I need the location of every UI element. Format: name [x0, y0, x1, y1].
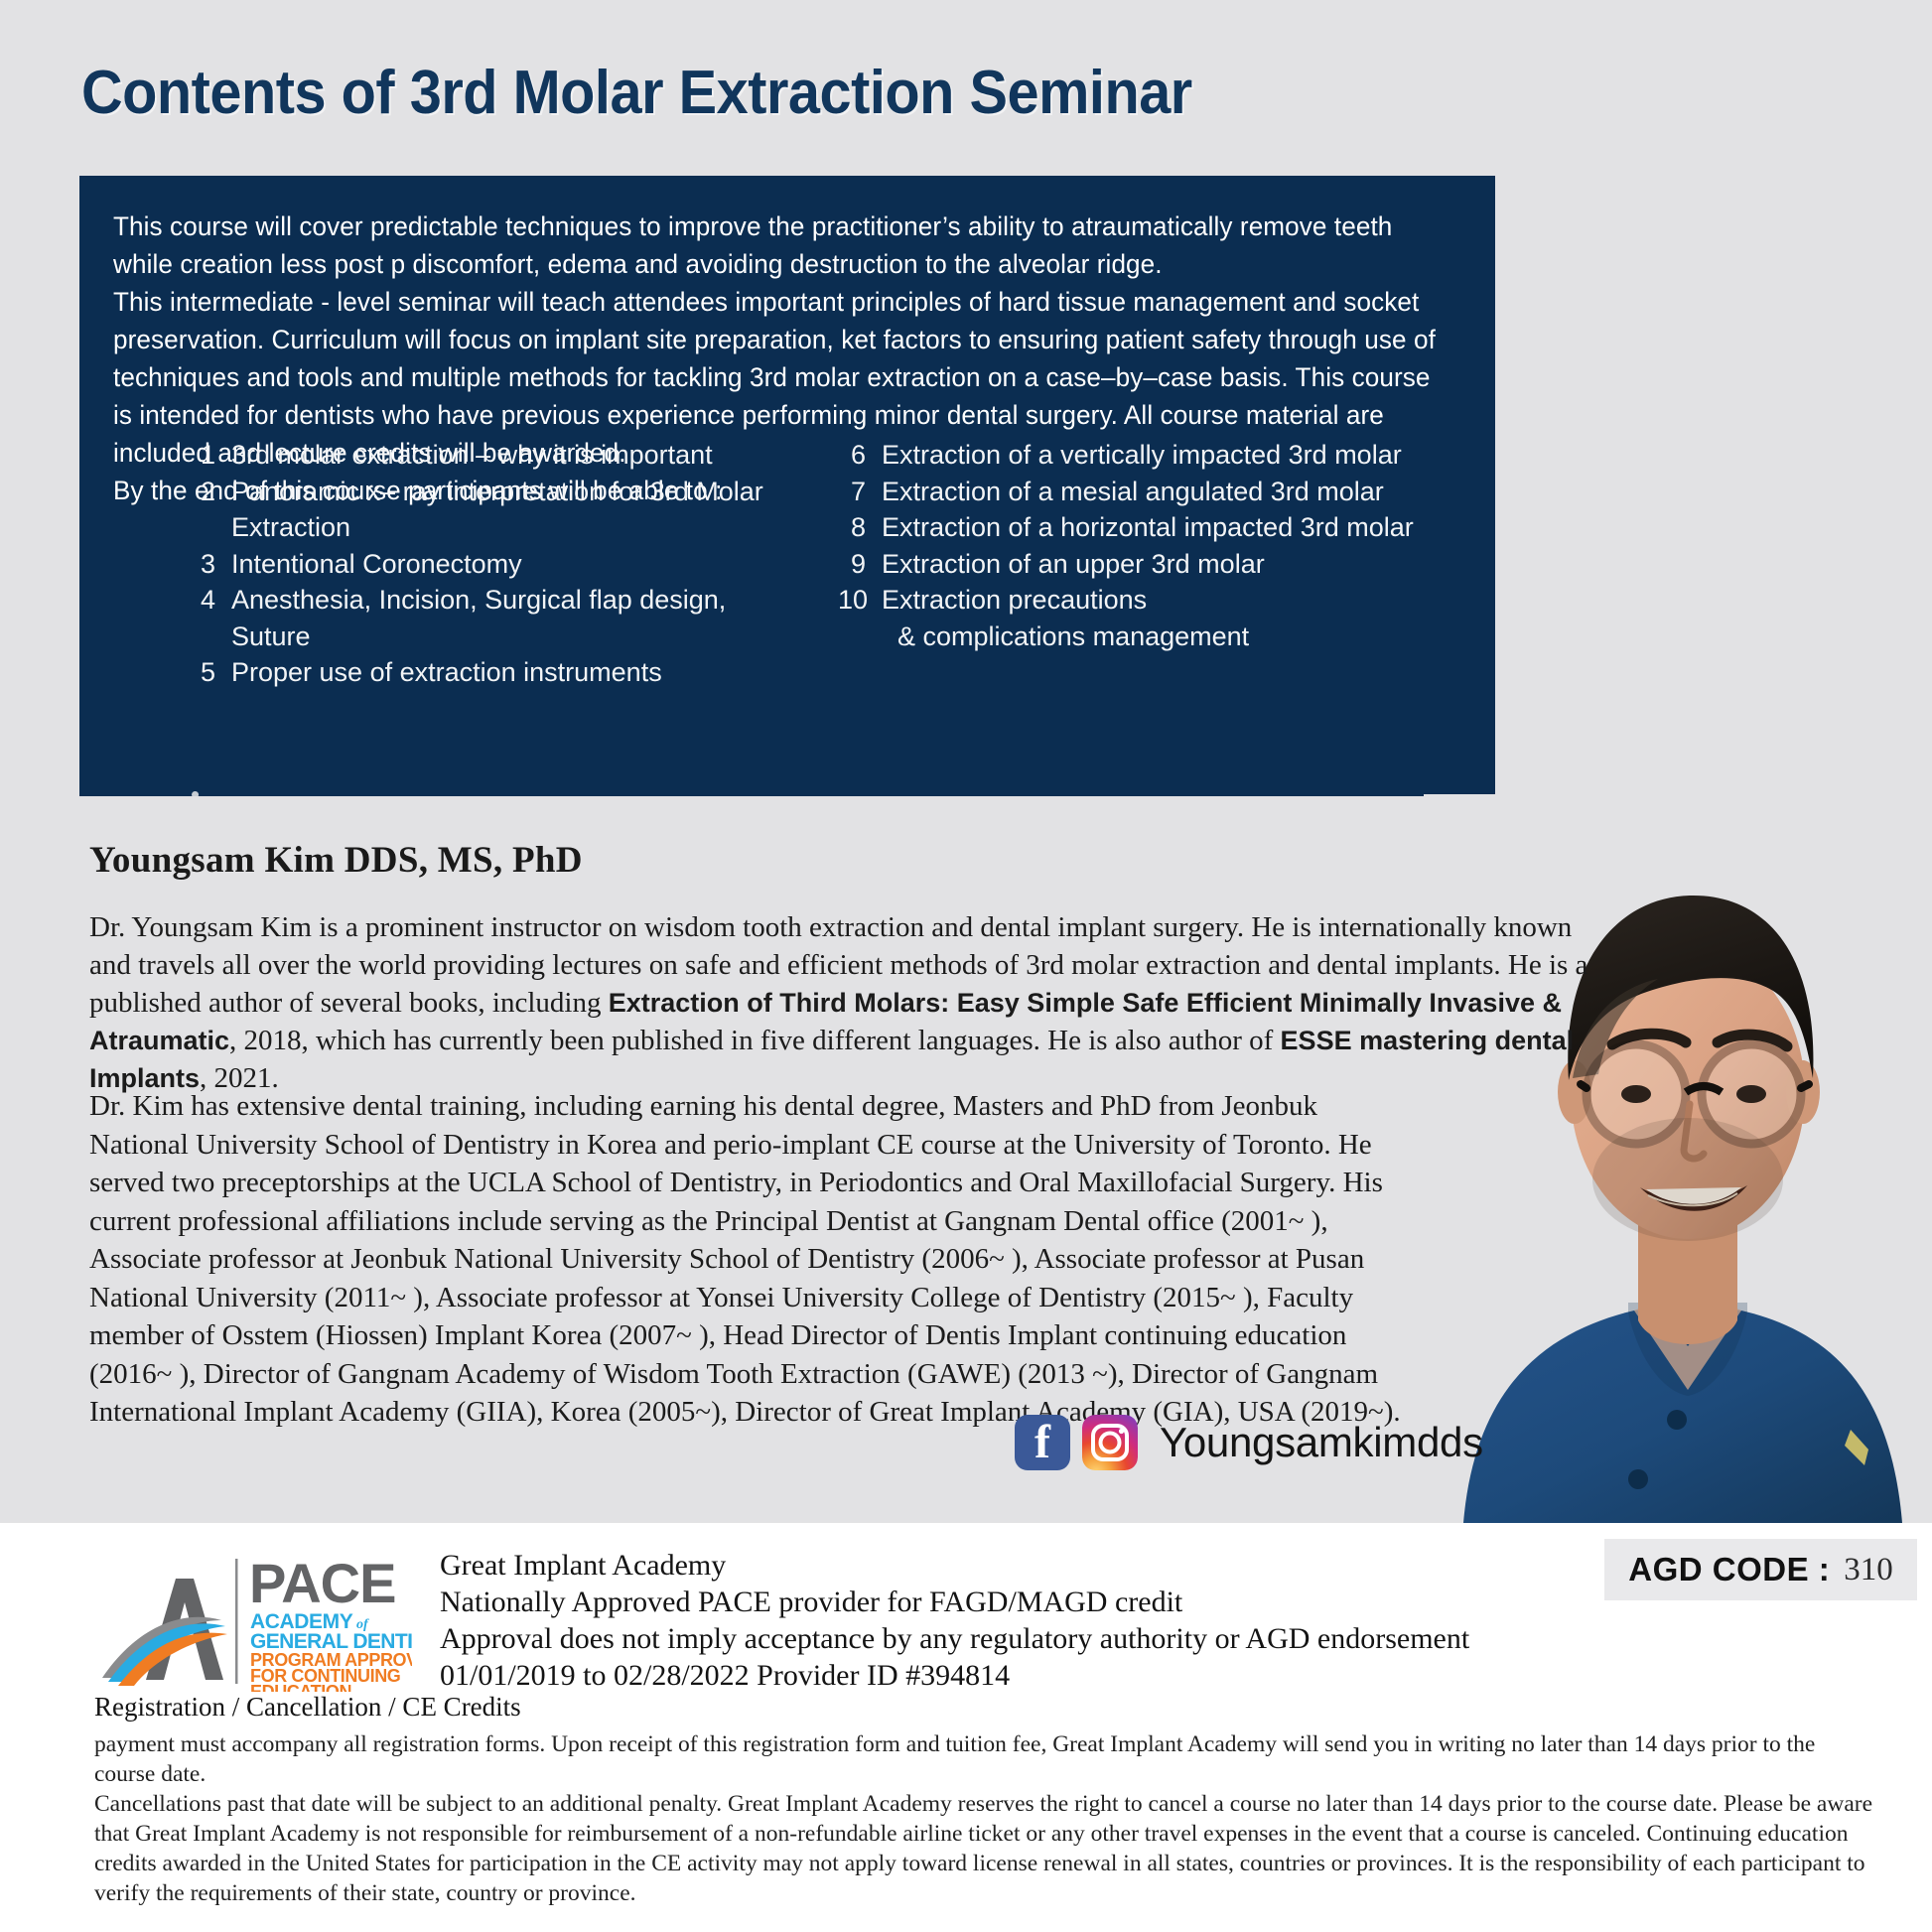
pace-line: Nationally Approved PACE provider for FA… — [440, 1584, 1469, 1620]
list-item-label: Extraction of a mesial angulated 3rd mol… — [882, 474, 1444, 510]
pace-logo: PACE ACADEMY of GENERAL DENTISTRY PROGRA… — [94, 1545, 412, 1692]
list-item-sublabel: & complications management — [882, 619, 1444, 655]
list-item: 7 Extraction of a mesial angulated 3rd m… — [838, 474, 1444, 510]
list-item-label: Panoramic x– ray interpretation for 3rd … — [231, 474, 808, 546]
agd-code-label: AGD CODE : — [1628, 1551, 1830, 1588]
pace-provider-text: Great Implant Academy Nationally Approve… — [440, 1547, 1469, 1694]
instructor-bio-paragraph-2: Dr. Kim has extensive dental training, i… — [89, 1087, 1410, 1432]
list-item-number: 9 — [838, 546, 882, 583]
clipped-text-artifact: • — [191, 779, 200, 796]
intro-paragraph-1: This course will cover predictable techn… — [113, 207, 1450, 283]
course-description-panel: This course will cover predictable techn… — [79, 176, 1495, 796]
registration-paragraph: payment must accompany all registration … — [94, 1729, 1881, 1789]
list-item-number: 10 — [838, 582, 882, 619]
list-item-number: 6 — [838, 437, 882, 474]
social-links[interactable]: Youngsamkimdds — [1015, 1415, 1483, 1470]
registration-heading: Registration / Cancellation / CE Credits — [94, 1692, 521, 1723]
list-item: 10 Extraction precautions & complication… — [838, 582, 1444, 654]
pace-line: Great Implant Academy — [440, 1547, 1469, 1584]
agd-code-value: 310 — [1844, 1552, 1893, 1588]
pace-line: 01/01/2019 to 02/28/2022 Provider ID #39… — [440, 1657, 1469, 1694]
list-item-label: Intentional Coronectomy — [231, 546, 808, 583]
pace-line: Approval does not imply acceptance by an… — [440, 1620, 1469, 1657]
list-item-label: Extraction of a horizontal impacted 3rd … — [882, 509, 1444, 546]
list-item-label: Extraction precautions — [882, 585, 1147, 615]
page-title: Contents of 3rd Molar Extraction Seminar — [81, 58, 1192, 128]
topics-list: 1 3rd molar extraction – why it is impor… — [113, 437, 1471, 691]
list-item: 5 Proper use of extraction instruments — [188, 654, 808, 691]
registration-paragraph: Cancellations past that date will be sub… — [94, 1789, 1881, 1908]
social-handle-label: Youngsamkimdds — [1160, 1419, 1483, 1466]
list-item-label: Proper use of extraction instruments — [231, 654, 808, 691]
list-item-label: Extraction of an upper 3rd molar — [882, 546, 1444, 583]
instructor-portrait-photo — [1424, 794, 1932, 1523]
list-item-number: 8 — [838, 509, 882, 546]
svg-text:PACE: PACE — [249, 1552, 395, 1614]
registration-fine-print: payment must accompany all registration … — [94, 1729, 1881, 1908]
instructor-bio-paragraph-1: Dr. Youngsam Kim is a prominent instruct… — [89, 908, 1618, 1097]
list-item-number: 1 — [188, 437, 231, 474]
list-item: 8 Extraction of a horizontal impacted 3r… — [838, 509, 1444, 546]
bio-text-part-2: , 2018, which has currently been publish… — [229, 1025, 1281, 1056]
list-item-number: 3 — [188, 546, 231, 583]
topics-column-left: 1 3rd molar extraction – why it is impor… — [113, 437, 808, 691]
list-item: 2 Panoramic x– ray interpretation for 3r… — [188, 474, 808, 546]
list-item: 3 Intentional Coronectomy — [188, 546, 808, 583]
instructor-name: Youngsam Kim DDS, MS, PhD — [89, 839, 583, 882]
list-item: 9 Extraction of an upper 3rd molar — [838, 546, 1444, 583]
agd-code-badge: AGD CODE : 310 — [1604, 1539, 1917, 1600]
topics-column-right: 6 Extraction of a vertically impacted 3r… — [808, 437, 1444, 691]
list-item-number: 5 — [188, 654, 231, 691]
upper-section: Contents of 3rd Molar Extraction Seminar… — [0, 0, 1932, 1523]
list-item: 6 Extraction of a vertically impacted 3r… — [838, 437, 1444, 474]
list-item: 1 3rd molar extraction – why it is impor… — [188, 437, 808, 474]
list-item: 4 Anesthesia, Incision, Surgical flap de… — [188, 582, 808, 654]
svg-text:EDUCATION: EDUCATION — [250, 1682, 351, 1692]
portrait-illustration — [1424, 794, 1932, 1523]
list-item-label: Anesthesia, Incision, Surgical flap desi… — [231, 582, 808, 654]
list-item-label: Extraction of a vertically impacted 3rd … — [882, 437, 1444, 474]
list-item-label: 3rd molar extraction – why it is importa… — [231, 437, 808, 474]
list-item-number: 7 — [838, 474, 882, 510]
list-item-number: 4 — [188, 582, 231, 619]
instagram-icon[interactable] — [1082, 1415, 1138, 1470]
facebook-icon[interactable] — [1015, 1415, 1070, 1470]
list-item-number: 2 — [188, 474, 231, 510]
